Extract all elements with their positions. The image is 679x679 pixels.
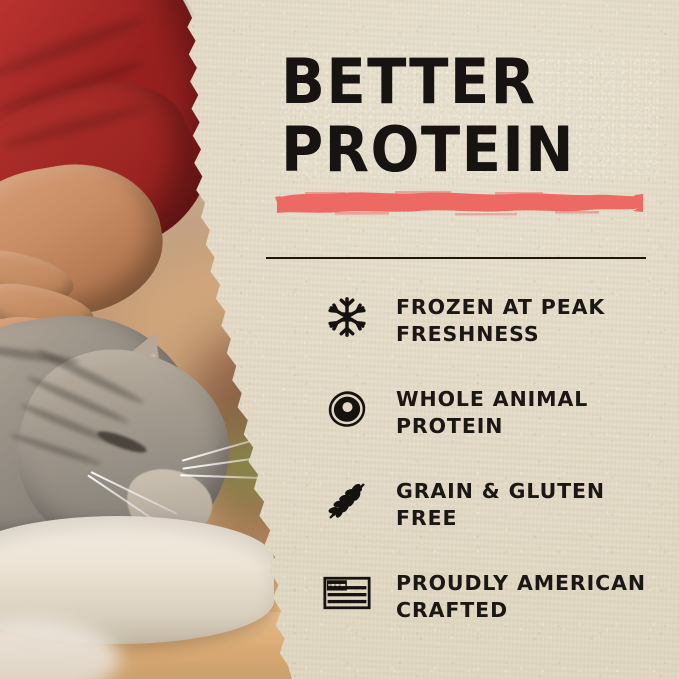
- feature-label-line-2: FRESHNESS: [396, 322, 540, 346]
- feature-label-line-1: GRAIN & GLUTEN: [396, 479, 605, 503]
- feature-label-line-2: CRAFTED: [396, 598, 508, 622]
- snowflake-icon: [318, 288, 376, 346]
- headline-line-1: BETTER: [281, 52, 634, 112]
- product-feature-ad: BETTER PROTEIN: [0, 0, 679, 679]
- feature-label: PROUDLY AMERICAN CRAFTED: [396, 564, 646, 625]
- divider-rule: [266, 257, 646, 259]
- feature-item: WHOLE ANIMAL PROTEIN: [318, 380, 658, 442]
- feature-label: GRAIN & GLUTEN FREE: [396, 472, 605, 533]
- usa-flag-icon: [318, 564, 376, 622]
- feature-label-line-2: FREE: [396, 506, 457, 530]
- feature-label-line-1: WHOLE ANIMAL: [396, 387, 588, 411]
- feature-label: WHOLE ANIMAL PROTEIN: [396, 380, 588, 441]
- feature-label-line-1: PROUDLY AMERICAN: [396, 571, 646, 595]
- feature-label-line-2: PROTEIN: [396, 414, 503, 438]
- headline-line-2: PROTEIN: [281, 120, 634, 180]
- feature-item: FROZEN AT PEAK FRESHNESS: [318, 288, 658, 350]
- feature-label-line-1: FROZEN AT PEAK: [396, 295, 605, 319]
- feature-list: FROZEN AT PEAK FRESHNESS WHOLE ANIMAL PR…: [318, 288, 658, 626]
- wheat-free-icon: [318, 472, 376, 530]
- headline: BETTER PROTEIN: [281, 52, 661, 179]
- feature-item: GRAIN & GLUTEN FREE: [318, 472, 658, 534]
- feature-item: PROUDLY AMERICAN CRAFTED: [318, 564, 658, 626]
- coral-brush-stroke: [275, 186, 643, 220]
- steak-icon: [318, 380, 376, 438]
- feature-label: FROZEN AT PEAK FRESHNESS: [396, 288, 605, 349]
